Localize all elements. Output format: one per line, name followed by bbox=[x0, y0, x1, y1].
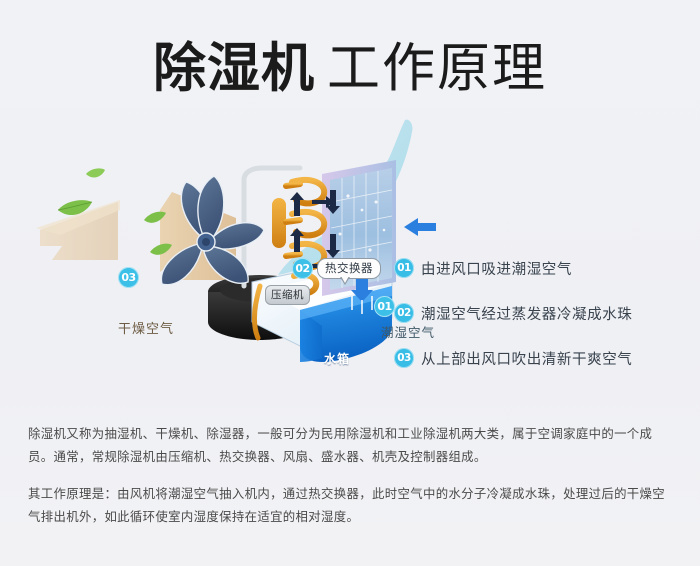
leaf-icon bbox=[86, 168, 105, 177]
step-text-02: 潮湿空气经过蒸发器冷凝成水珠 bbox=[421, 303, 632, 324]
step-text-03: 从上部出风口吹出清新干爽空气 bbox=[421, 348, 632, 369]
title-secondary: 工作原理 bbox=[327, 38, 547, 99]
water-tank-label: 水箱 bbox=[324, 350, 350, 367]
page-title: 除湿机工作原理 bbox=[0, 26, 700, 102]
title-primary: 除湿机 bbox=[153, 38, 315, 99]
step-badge-03: 03 bbox=[394, 348, 414, 368]
heat-exchanger-callout: 热交换器 bbox=[317, 258, 381, 279]
list-item: 01 由进风口吸进潮湿空气 bbox=[394, 256, 674, 280]
steps-list: 01 由进风口吸进潮湿空气 02 潮湿空气经过蒸发器冷凝成水珠 03 从上部出风… bbox=[394, 256, 674, 391]
paragraph-1: 除湿机又称为抽湿机、干燥机、除湿器，一般可分为民用除湿机和工业除湿机两大类，属于… bbox=[28, 422, 676, 468]
diagram-badge-02: 02 bbox=[292, 258, 313, 279]
description-block: 除湿机又称为抽湿机、干燥机、除湿器，一般可分为民用除湿机和工业除湿机两大类，属于… bbox=[28, 422, 676, 528]
diagram-badge-03: 03 bbox=[118, 267, 139, 288]
step-badge-01: 01 bbox=[394, 258, 414, 278]
step-badge-02: 02 bbox=[394, 303, 414, 323]
list-item: 02 潮湿空气经过蒸发器冷凝成水珠 bbox=[394, 301, 674, 325]
step-text-01: 由进风口吸进潮湿空气 bbox=[421, 258, 572, 279]
diagram-badge-01: 01 bbox=[374, 296, 395, 317]
list-item: 03 从上部出风口吹出清新干爽空气 bbox=[394, 346, 674, 370]
paragraph-2: 其工作原理是：由风机将潮湿空气抽入机内，通过热交换器，此时空气中的水分子冷凝成水… bbox=[28, 482, 676, 528]
compressor-label: 压缩机 bbox=[265, 285, 310, 305]
infographic-page: 除湿机工作原理 bbox=[0, 0, 700, 566]
dry-air-label: 干燥空气 bbox=[118, 318, 174, 337]
intake-arrow bbox=[404, 218, 436, 236]
callout-pointer bbox=[340, 277, 350, 285]
